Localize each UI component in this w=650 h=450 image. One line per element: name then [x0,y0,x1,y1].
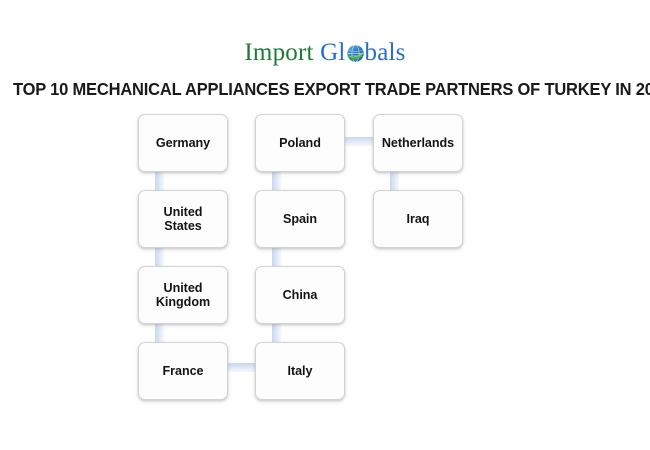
node-label-germany: Germany [153,136,213,150]
node-label-united-kingdom: United Kingdom [153,281,213,309]
node-label-italy: Italy [285,364,316,378]
diagram-canvas: Import Gl [0,0,650,450]
connector-poland-netherlands [341,137,377,146]
node-spain[interactable]: Spain [255,190,345,248]
node-label-china: China [280,288,321,302]
node-france[interactable]: France [138,342,228,400]
connector-france-italy [224,363,259,372]
node-poland[interactable]: Poland [255,114,345,172]
node-label-poland: Poland [276,136,324,150]
node-germany[interactable]: Germany [138,114,228,172]
node-united-kingdom[interactable]: United Kingdom [138,266,228,324]
node-italy[interactable]: Italy [255,342,345,400]
node-label-iraq: Iraq [404,212,433,226]
node-united-states[interactable]: United States [138,190,228,248]
node-china[interactable]: China [255,266,345,324]
node-label-france: France [160,364,207,378]
node-netherlands[interactable]: Netherlands [373,114,463,172]
node-iraq[interactable]: Iraq [373,190,463,248]
node-label-united-states: United States [161,205,206,233]
node-label-netherlands: Netherlands [379,136,457,150]
node-label-spain: Spain [280,212,320,226]
trade-partners-flowchart: Germany United States United Kingdom Fra… [0,0,650,450]
